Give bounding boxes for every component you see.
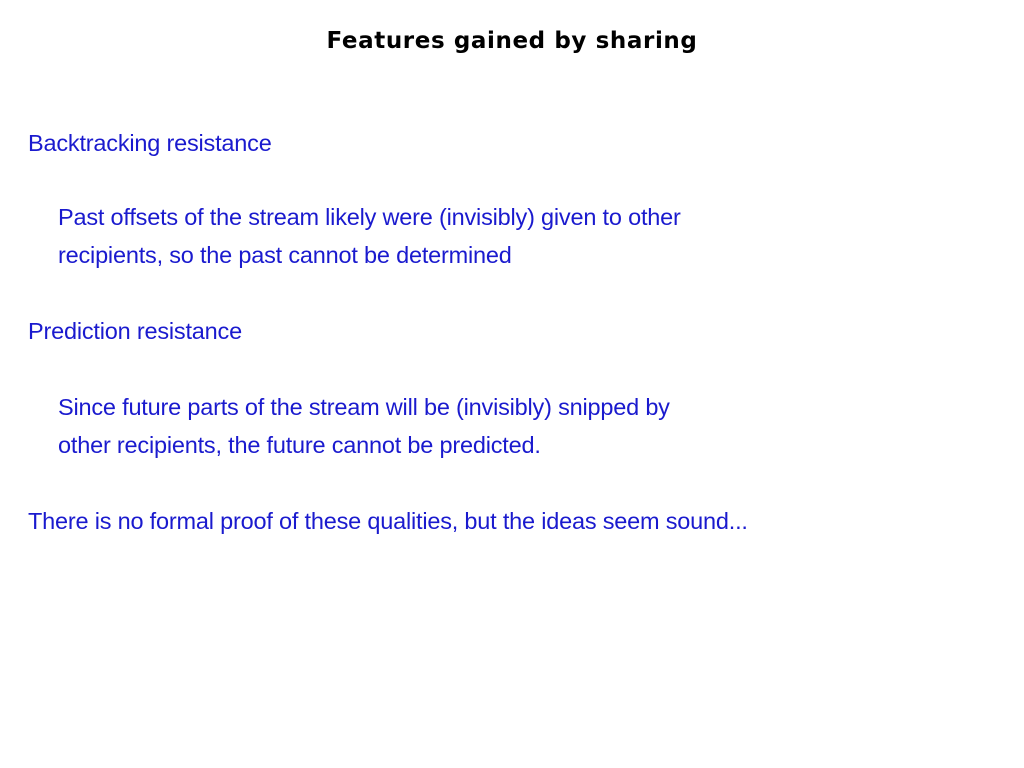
section-heading-backtracking-resistance: Backtracking resistance [28, 124, 272, 162]
presentation-slide: Features gained by sharing Backtracking … [0, 0, 1024, 768]
closing-statement: There is no formal proof of these qualit… [28, 502, 748, 540]
section-2-paragraph-line-1: Since future parts of the stream will be… [58, 388, 670, 426]
section-2-paragraph-line-2: other recipients, the future cannot be p… [58, 426, 541, 464]
slide-body: Backtracking resistance Past offsets of … [0, 0, 1024, 768]
section-1-paragraph-line-2: recipients, so the past cannot be determ… [58, 236, 512, 274]
section-heading-prediction-resistance: Prediction resistance [28, 312, 242, 350]
section-1-paragraph-line-1: Past offsets of the stream likely were (… [58, 198, 681, 236]
